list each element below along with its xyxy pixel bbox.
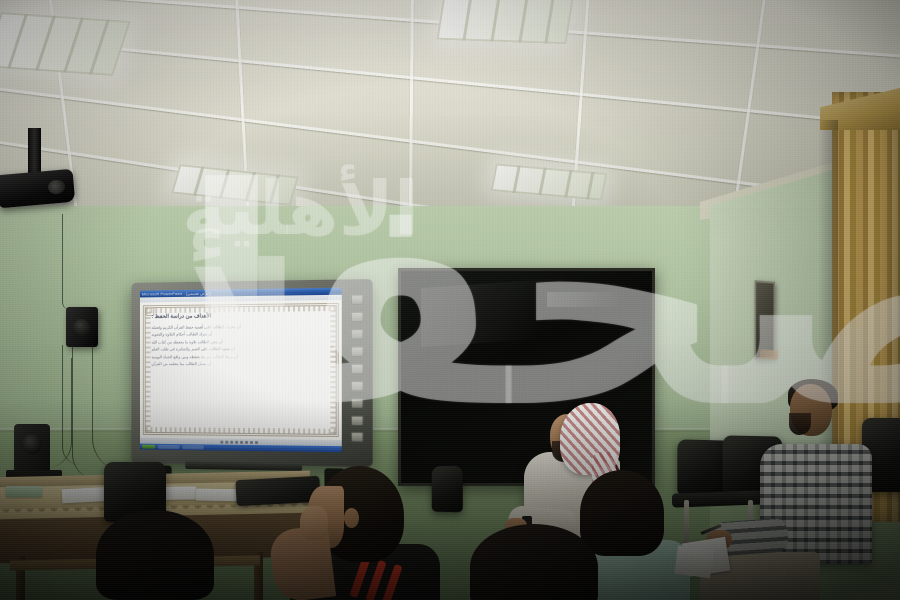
whiteboard-tool-button[interactable] <box>351 415 363 425</box>
blackboard-reflection <box>547 292 622 307</box>
window-title-text: Microsoft PowerPoint - [عرض تقديمي] <box>142 291 211 297</box>
cable-3 <box>92 344 126 472</box>
whiteboard-projection-area[interactable]: Microsoft PowerPoint - [عرض تقديمي] ١ ال… <box>140 288 342 453</box>
whiteboard-toolbar[interactable] <box>348 291 367 446</box>
head-back <box>580 470 664 556</box>
wall-board-bracket <box>760 349 779 360</box>
slide-bullet: أن يدرك الطالب أحكام التلاوة والتجويد <box>151 333 212 338</box>
taskbar-item[interactable] <box>158 445 179 449</box>
whiteboard-tool-button[interactable] <box>351 295 363 305</box>
slide-heading: الأهداف من دراسة الحفظ : <box>151 313 211 320</box>
slide-bullet: أن يتعود الطالب على الصبر والمثابرة في ط… <box>151 347 234 352</box>
whiteboard-tool-button[interactable] <box>351 312 363 322</box>
person-student-left-foreground <box>96 510 214 600</box>
interactive-whiteboard[interactable]: Microsoft PowerPoint - [عرض تقديمي] ١ ال… <box>131 279 372 467</box>
paper-sheet <box>674 546 714 579</box>
cable-ceiling-drop <box>62 214 70 310</box>
whiteboard-tool-button[interactable] <box>351 364 363 374</box>
windows-taskbar[interactable] <box>140 444 342 453</box>
person-student-center-foreground <box>470 524 598 600</box>
slide-bullet: أن يتقن الطالب تلاوة ما يحفظه من كتاب ال… <box>151 340 222 345</box>
classroom-chair[interactable] <box>432 466 463 513</box>
whiteboard-tool-button[interactable] <box>351 329 363 339</box>
framed-wall-board <box>755 280 775 360</box>
classroom-photograph: Microsoft PowerPoint - [عرض تقديمي] ١ ال… <box>0 0 900 600</box>
slide-area[interactable]: ١ الأهداف من دراسة الحفظ : أن يتعرف الطا… <box>140 300 342 440</box>
projector-mount-pole <box>28 128 41 178</box>
slide-bullet: أن يربط الطالب بين ما يحفظه وبين واقع ال… <box>151 355 238 360</box>
start-button[interactable] <box>142 445 155 449</box>
paper-sheet <box>6 486 42 497</box>
whiteboard-tool-button[interactable] <box>351 381 363 391</box>
blackboard-glare <box>421 275 597 347</box>
slide-bullet: أن يتعرف الطالب على أهمية حفظ القرآن الك… <box>151 325 240 330</box>
classroom-chair[interactable] <box>677 439 729 494</box>
taskbar-item[interactable] <box>182 445 203 449</box>
slide-content: الأهداف من دراسة الحفظ : أن يتعرف الطالب… <box>151 312 329 426</box>
wall-speaker-icon <box>66 307 98 347</box>
whiteboard-tool-button[interactable] <box>351 398 363 408</box>
projected-computer-screen[interactable]: Microsoft PowerPoint - [عرض تقديمي] ١ ال… <box>140 288 342 453</box>
whiteboard-tool-button[interactable] <box>351 347 363 357</box>
whiteboard-tool-button[interactable] <box>351 432 363 442</box>
ear <box>344 508 359 528</box>
hand <box>300 506 328 540</box>
slide-bullet: أن يعمل الطالب بما يتعلمه من القرآن <box>151 362 211 366</box>
